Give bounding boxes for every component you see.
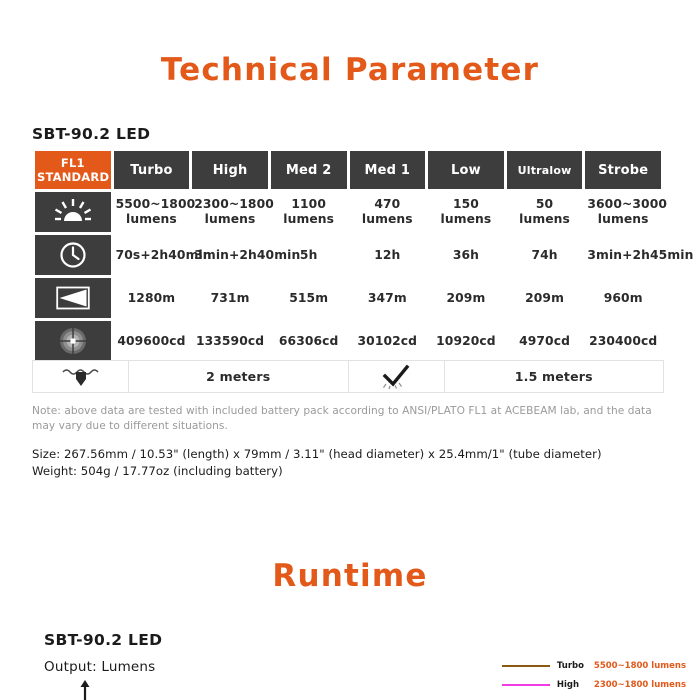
impact-rating-value: 1.5 meters [445,361,664,392]
table-row-output: 5500~1800 lumens 2300~1800 lumens 1100 l… [35,192,661,232]
table-row-runtime: 70s+2h40min 3min+2h40min 5h 12h 36h 74h … [35,235,661,275]
impact-resistance-icon [349,361,445,392]
size-text: Size: 267.56mm / 10.53" (length) x 79mm … [32,446,668,463]
output-ultralow: 50 lumens [507,192,583,232]
legend-value-high: 2300~1800 lumens [594,680,686,690]
runtime-med1: 12h [350,235,426,275]
mode-header-strobe: Strobe [585,151,661,189]
runtime-strobe: 3min+2h45min [585,235,661,275]
output-low: 150 lumens [428,192,504,232]
mode-header-med2: Med 2 [271,151,347,189]
beam-distance-high: 731m [192,278,268,318]
beam-distance-strobe: 960m [585,278,661,318]
mode-header-turbo: Turbo [114,151,190,189]
mode-header-high: High [192,151,268,189]
table-header-row: FL1 STANDARD Turbo High Med 2 Med 1 Low … [35,151,661,189]
water-submersion-icon [33,361,129,392]
output-turbo: 5500~1800 lumens [114,192,190,232]
peak-intensity-ultralow: 4970cd [507,321,583,361]
output-high: 2300~1800 lumens [192,192,268,232]
beam-distance-med1: 347m [350,278,426,318]
specification-table: FL1 STANDARD Turbo High Med 2 Med 1 Low … [32,148,664,364]
weight-text: Weight: 504g / 17.77oz (including batter… [32,463,668,480]
peak-intensity-med1: 30102cd [350,321,426,361]
note-text: Note: above data are tested with include… [32,404,668,434]
legend-line-turbo-icon [502,665,550,667]
beam-distance-med2: 515m [271,278,347,318]
fl1-line1: FL1 [61,156,85,170]
beam-distance-icon [35,278,111,318]
peak-intensity-high: 133590cd [192,321,268,361]
peak-intensity-turbo: 409600cd [114,321,190,361]
peak-beam-intensity-icon [35,321,111,361]
page-title-technical-parameter: Technical Parameter [0,52,700,88]
page-title-runtime: Runtime [0,558,700,594]
output-strobe: 3600~3000 lumens [585,192,661,232]
fl1-standard-header: FL1 STANDARD [35,151,111,189]
beam-distance-low: 209m [428,278,504,318]
runtime-ultralow: 74h [507,235,583,275]
output-med1: 470 lumens [350,192,426,232]
legend-value-turbo: 5500~1800 lumens [594,661,686,671]
chart-y-axis-label: Output: Lumens [44,659,155,675]
peak-intensity-strobe: 230400cd [585,321,661,361]
beam-distance-ultralow: 209m [507,278,583,318]
model-label-bottom: SBT-90.2 LED [44,631,162,649]
runtime-low: 36h [428,235,504,275]
table-row-beam-distance: 1280m 731m 515m 347m 209m 209m 960m [35,278,661,318]
legend-item-high: High 2300~1800 lumens [502,680,686,690]
beam-distance-turbo: 1280m [114,278,190,318]
mode-header-low: Low [428,151,504,189]
runtime-high: 3min+2h40min [192,235,268,275]
peak-intensity-low: 10920cd [428,321,504,361]
legend-label-turbo: Turbo [557,661,587,671]
fl1-line2: STANDARD [37,170,109,184]
output-med2: 1100 lumens [271,192,347,232]
table-row-peak-intensity: 409600cd 133590cd 66306cd 30102cd 10920c… [35,321,661,361]
chart-legend: Turbo 5500~1800 lumens High 2300~1800 lu… [502,661,686,690]
legend-label-high: High [557,680,587,690]
mode-header-med1: Med 1 [350,151,426,189]
rating-row: 2 meters 1.5 meters [32,360,664,393]
chart-y-axis-arrow-icon [78,680,92,700]
waterproof-rating-value: 2 meters [129,361,349,392]
model-label-top: SBT-90.2 LED [32,125,150,143]
legend-line-high-icon [502,684,550,686]
runtime-turbo: 70s+2h40min [114,235,190,275]
mode-header-ultralow: Ultralow [507,151,583,189]
clock-icon [35,235,111,275]
technical-parameter-page: Technical Parameter SBT-90.2 LED FL1 STA… [0,0,700,700]
light-burst-icon [35,192,111,232]
legend-item-turbo: Turbo 5500~1800 lumens [502,661,686,671]
peak-intensity-med2: 66306cd [271,321,347,361]
size-weight-block: Size: 267.56mm / 10.53" (length) x 79mm … [32,446,668,479]
